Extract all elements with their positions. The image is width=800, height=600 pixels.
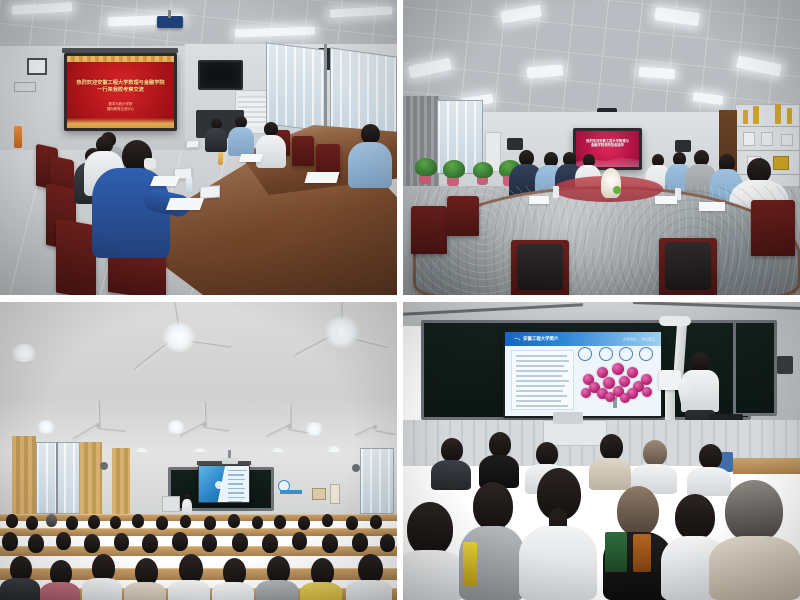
audience-head (407, 502, 453, 556)
gutter-horizontal-left (0, 295, 397, 302)
beverage-carton (633, 534, 651, 572)
slide-subtitle: 数学与统计学院 国际教育交流中心 (80, 102, 161, 112)
face-mask (144, 158, 156, 169)
student-head (232, 533, 248, 552)
slide-title: 热烈欢迎安徽工程大学数理与金融学院 一行来我校考察交流 (73, 80, 167, 94)
desk-equipment (553, 412, 583, 424)
student-head (274, 515, 286, 529)
ceiling-projector (222, 458, 238, 464)
slide-bullet (228, 492, 244, 494)
attendee-torso (348, 142, 392, 188)
wall-speaker (100, 462, 108, 470)
camera-arm-joint (659, 316, 691, 326)
audience-head (536, 442, 558, 466)
slide-header-title: 一、安徽工程大学简介 (514, 336, 558, 342)
circle-icon (578, 347, 592, 361)
student (40, 560, 80, 600)
circle-icon (599, 347, 613, 361)
student-head (380, 534, 395, 552)
trophy (787, 108, 792, 124)
beverage-carton (605, 532, 627, 572)
lecture-hall-scene (0, 302, 397, 600)
beverage-bottle (463, 542, 477, 586)
window (36, 442, 80, 514)
student-head (84, 534, 100, 553)
flower-leaf (613, 186, 621, 194)
circle-icon (639, 347, 653, 361)
ceiling-fan (72, 414, 128, 438)
student-head (88, 515, 100, 529)
attendee (205, 118, 227, 152)
student-torso (212, 582, 254, 600)
chair-seatback (517, 244, 563, 290)
presenter-head (691, 352, 709, 372)
slide-icon-row (575, 348, 656, 359)
wall-plaque (14, 82, 36, 92)
chair (292, 136, 314, 166)
slide-text-line (516, 355, 566, 357)
attendee-head (361, 124, 380, 144)
attendee-head (264, 122, 278, 136)
photo-panel-bottom-right: 一、安徽工程大学简介 办学历史 | 学科建设 (403, 302, 800, 600)
ceiling-downlight (10, 344, 38, 362)
student-torso (40, 582, 80, 600)
student-head (322, 514, 333, 527)
window-blinds (266, 42, 326, 131)
slide-badge (215, 481, 223, 489)
slide-text-line (516, 380, 568, 382)
attendee-foreground (92, 140, 170, 258)
wall-picture-frame (27, 58, 47, 75)
tree-node (627, 367, 638, 378)
slide-text-line (516, 395, 567, 397)
student-torso (0, 578, 40, 600)
shelf-divider (735, 150, 800, 151)
water-bottle (186, 176, 192, 192)
student (0, 556, 40, 600)
student-head (6, 514, 18, 528)
projection-screen: 热烈欢迎安徽工程大学数理与金融学院 一行来我校考察交流 数学与统计学院 国际教育… (64, 53, 177, 131)
blackboard-right-section (733, 320, 777, 416)
student (212, 558, 254, 600)
audience-head (600, 434, 623, 460)
document (655, 196, 677, 204)
slide-bullet (228, 479, 246, 481)
chair (447, 196, 479, 236)
attendee (228, 116, 254, 156)
audience-head (725, 480, 783, 542)
wall-device (777, 356, 793, 374)
trophy (743, 110, 748, 124)
tree-node (605, 392, 615, 402)
student-torso (168, 580, 210, 600)
window (360, 448, 394, 514)
notebook (239, 154, 264, 162)
ceiling-fan (180, 414, 232, 436)
trophy (753, 106, 759, 124)
audience-head (473, 482, 513, 530)
slide-title: 热烈欢迎安徽工程大学数理与 金融学院领导莅临指导 (580, 139, 635, 148)
slide-university-intro: 一、安徽工程大学简介 办学历史 | 学科建设 (505, 332, 661, 416)
audience-head (643, 440, 667, 466)
notice-board (312, 488, 326, 500)
fan-blade (355, 427, 375, 438)
tree-node (612, 363, 624, 375)
notebook (150, 176, 180, 186)
window-mullion (324, 44, 327, 140)
student-head (46, 514, 57, 527)
fan-hub (373, 425, 377, 429)
slide-text-line (516, 390, 563, 392)
slide-gold-band-bottom (67, 118, 174, 128)
notebook (166, 198, 204, 210)
fan-hub (287, 424, 292, 429)
gutter-horizontal-right (403, 295, 800, 302)
fan-blade (204, 424, 230, 431)
slide-header-bar: 一、安徽工程大学简介 办学历史 | 学科建设 (505, 332, 661, 346)
attendee-torso (256, 135, 286, 168)
audience-member (519, 468, 597, 600)
potted-plant (443, 160, 465, 178)
audience-torso (403, 550, 465, 600)
slide-bullet-list (228, 470, 247, 502)
slide-bullet (228, 497, 245, 499)
slide-text-line (516, 400, 561, 402)
slide-text-line (516, 360, 568, 362)
student-torso (82, 578, 122, 600)
interactive-display: 一、安徽工程大学简介 办学历史 | 学科建设 (503, 330, 663, 418)
student-row-near (0, 552, 397, 600)
classroom-presentation-scene: 一、安徽工程大学简介 办学历史 | 学科建设 (403, 302, 800, 600)
audience-head (489, 432, 511, 457)
student-head (322, 534, 338, 553)
fan-blade (375, 427, 396, 434)
thermos (14, 126, 22, 148)
conference-room-scene: 热烈欢迎安徽工程大学数理与金融学院 一行来我校考察交流 数学与统计学院 国际教育… (0, 0, 397, 295)
curtain (12, 436, 36, 514)
slide-header-right-2: 学科建设 (641, 338, 655, 342)
fan-hub (202, 422, 207, 427)
student-head (2, 532, 18, 551)
slide-bullet (228, 488, 245, 490)
student-head (28, 534, 44, 553)
fan-hub (96, 423, 101, 428)
audience-head (617, 486, 659, 536)
student-head (202, 534, 217, 552)
ceiling-downlight (166, 420, 186, 434)
photo-collage: 热烈欢迎安徽工程大学数理与金融学院 一行来我校考察交流 数学与统计学院 国际教育… (0, 0, 800, 600)
name-plate (186, 140, 199, 149)
chair (56, 218, 96, 295)
student-torso (346, 580, 392, 600)
ceiling-fan (126, 316, 236, 360)
certificate-plaque (761, 132, 773, 146)
ceiling-downlight (304, 422, 324, 436)
potted-plant (415, 158, 437, 176)
audience-head (441, 438, 463, 462)
curtain (80, 442, 102, 516)
ceiling-downlight (36, 420, 56, 434)
student (300, 558, 342, 600)
slide-text-line (516, 405, 568, 407)
student-head (56, 532, 71, 550)
student-head (172, 532, 188, 551)
ceiling-fan (356, 418, 397, 438)
tree-node (620, 393, 630, 403)
student-head (370, 515, 382, 529)
student-head (352, 533, 368, 552)
student (124, 558, 166, 600)
slide-header-right: 办学历史 | 学科建设 (623, 337, 655, 342)
slide-title-line2: 金融学院领导莅临指导 (580, 143, 635, 147)
circle-icon (619, 347, 633, 361)
student-head (292, 532, 307, 550)
chair (751, 200, 795, 256)
projection-screen (198, 465, 250, 503)
conference-hall-scene: 热烈欢迎安徽工程大学数理与 金融学院领导莅临指导 (403, 0, 800, 295)
document (529, 196, 549, 204)
student-torso (256, 580, 298, 600)
student-head (142, 534, 158, 553)
attendee-torso (228, 127, 254, 156)
slide-bullet (228, 501, 242, 502)
student (168, 554, 210, 600)
wall-speaker (507, 138, 523, 150)
slide-node-tree-diagram (577, 362, 655, 408)
water-glass (553, 186, 559, 198)
photo-panel-top-right: 热烈欢迎安徽工程大学数理与 金融学院领导莅临指导 (403, 0, 800, 295)
slide-bullet (228, 470, 247, 472)
slide-text-line (516, 385, 565, 387)
slide-bullet (228, 474, 245, 476)
wall-mounted-tv (198, 60, 243, 90)
audience-torso (709, 536, 800, 600)
photo-panel-bottom-left: Large lecture hall full of students faci… (0, 302, 397, 600)
student-head (132, 514, 144, 528)
slide-text-line (516, 365, 564, 367)
trophy (775, 104, 781, 124)
slide-header-separator: | (637, 338, 640, 342)
slide-subtitle-line2: 国际教育交流中心 (80, 107, 161, 112)
audience-member (403, 502, 465, 600)
student-torso (300, 582, 342, 600)
potted-plant (473, 162, 493, 178)
certificate-plaque (781, 134, 793, 146)
fan-light (162, 322, 196, 352)
certificate-plaque (743, 132, 755, 146)
water-bottle (218, 152, 223, 165)
slide-title-line2: 一行来我校考察交流 (73, 87, 167, 94)
slide-agenda (199, 466, 249, 502)
notebook (304, 172, 339, 183)
notice-board (330, 484, 340, 504)
wall-speaker (352, 464, 360, 472)
student (256, 556, 298, 600)
ceiling-fan (292, 308, 396, 354)
projector-mount (168, 10, 171, 18)
student-head (180, 515, 191, 528)
student (346, 554, 392, 600)
student (82, 554, 122, 600)
fan-blade (266, 426, 290, 440)
slide-text-line (516, 370, 567, 372)
chair-seatback (665, 242, 711, 290)
student-head (228, 514, 240, 528)
wall-banner (280, 490, 302, 494)
window-frame (56, 442, 58, 514)
student-head (114, 533, 129, 551)
document (699, 202, 725, 211)
slide-header-right-1: 办学历史 (623, 338, 637, 342)
slide-text-block (511, 350, 573, 410)
chair (411, 206, 447, 254)
slide-bullet (228, 483, 243, 485)
attendee (348, 124, 392, 188)
slide-red-banner: 热烈欢迎安徽工程大学数理与金融学院 一行来我校考察交流 数学与统计学院 国际教育… (67, 56, 174, 128)
photo-panel-top-left: 热烈欢迎安徽工程大学数理与金融学院 一行来我校考察交流 数学与统计学院 国际教育… (0, 0, 397, 295)
shelf-divider (735, 126, 800, 127)
student-torso (124, 582, 166, 600)
name-plate (200, 185, 220, 198)
fan-light (324, 316, 360, 348)
slide-text-line (516, 375, 562, 377)
fan-blade (98, 425, 126, 431)
student-head (262, 534, 278, 553)
slide-body (505, 346, 661, 416)
tree-node (642, 387, 652, 397)
slide-gold-band-top (67, 56, 174, 62)
audience-torso (519, 526, 597, 600)
attendee-torso (205, 128, 227, 152)
audience-member (709, 480, 800, 600)
tree-node (581, 388, 591, 398)
